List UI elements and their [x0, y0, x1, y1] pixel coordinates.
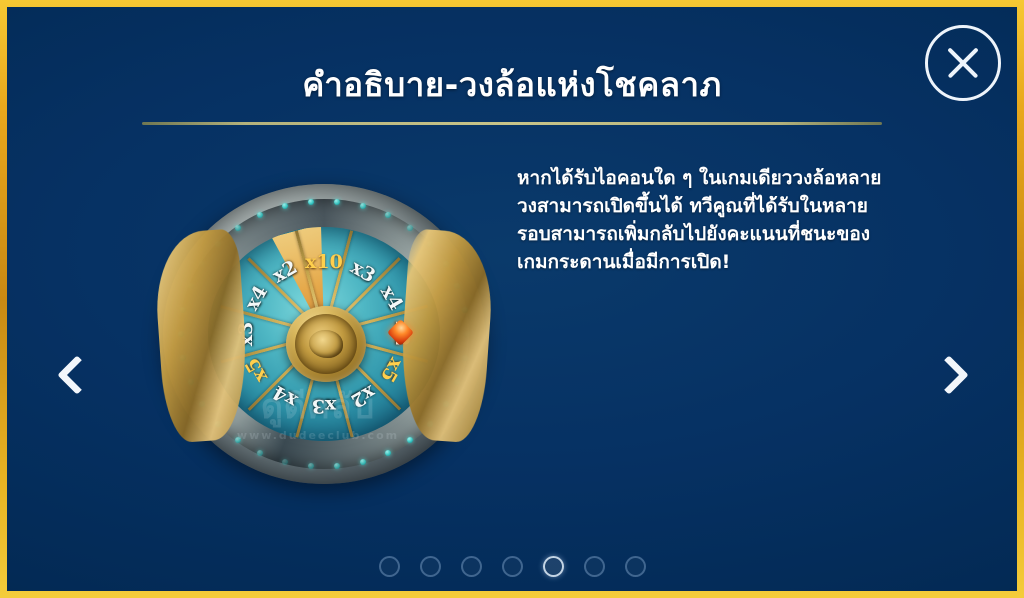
pagination-dot[interactable] [502, 556, 523, 577]
rim-gem [235, 225, 241, 231]
rim-gem [257, 450, 263, 456]
rim-gem [360, 203, 366, 209]
title-divider [142, 122, 882, 125]
pagination-dot[interactable] [420, 556, 441, 577]
dragon-medallion-icon [295, 314, 357, 374]
pagination-dot[interactable] [379, 556, 400, 577]
prev-slide-button[interactable] [49, 347, 103, 411]
wheel-illustration: x10x3x4x2x5x2x3x4x5x3x4x2 ดูดีคลับ www.d… [153, 179, 495, 489]
rim-gem [308, 463, 314, 469]
page-title: คำอธิบาย-วงล้อแห่งโชคลาภ [7, 63, 1017, 107]
next-slide-button[interactable] [921, 347, 975, 411]
pagination-dot[interactable] [543, 556, 564, 577]
rim-gem [385, 450, 391, 456]
rim-gem [235, 437, 241, 443]
pagination-dots [7, 556, 1017, 577]
description-text: หากได้รับไอคอนใด ๆ ในเกมเดียววงล้อหลายวง… [517, 164, 889, 276]
chevron-right-icon [929, 355, 969, 395]
rim-gem [334, 199, 340, 205]
chevron-left-icon [57, 355, 97, 395]
rim-gem [407, 225, 413, 231]
pagination-dot[interactable] [461, 556, 482, 577]
rim-gem [407, 437, 413, 443]
rim-gem [257, 212, 263, 218]
rim-gem [282, 203, 288, 209]
dialog-body: คำอธิบาย-วงล้อแห่งโชคลาภ หากได้รับไอคอนใ… [7, 7, 1017, 591]
help-dialog: คำอธิบาย-วงล้อแห่งโชคลาภ หากได้รับไอคอนใ… [0, 0, 1024, 598]
pagination-dot[interactable] [584, 556, 605, 577]
rim-gem [360, 459, 366, 465]
pagination-dot[interactable] [625, 556, 646, 577]
rim-gem [385, 212, 391, 218]
wheel-hub [286, 306, 366, 382]
rim-gem [308, 199, 314, 205]
rim-gem [334, 463, 340, 469]
rim-gem [282, 459, 288, 465]
